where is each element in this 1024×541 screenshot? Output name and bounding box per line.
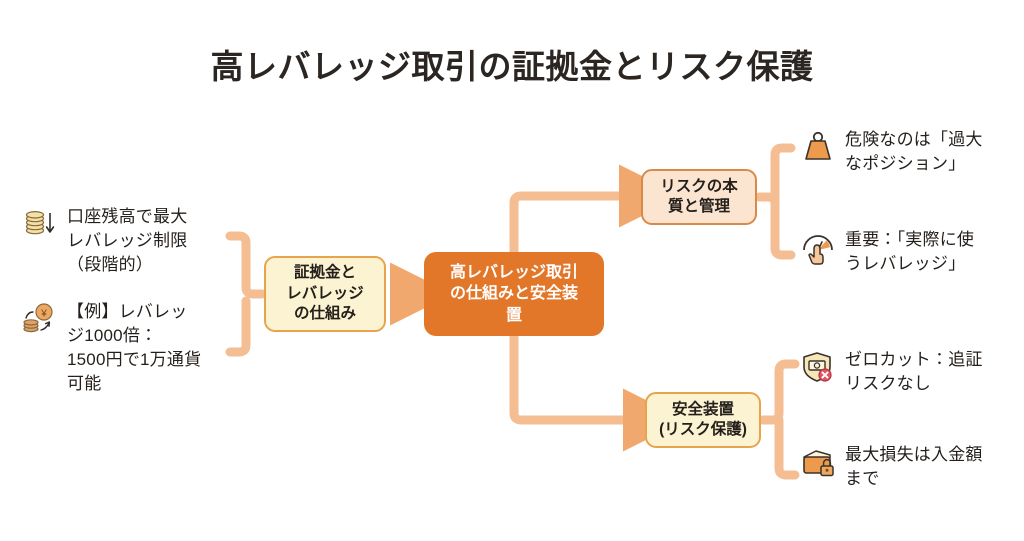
wallet-lock-icon bbox=[800, 444, 836, 480]
leaf-oversized-position-danger[interactable]: 危険なのは「過大 なポジション」 bbox=[800, 128, 1024, 176]
coin-stack-down-arrow-icon bbox=[22, 206, 58, 242]
leaf-zero-cut-no-margin-call[interactable]: ゼロカット：追証 リスクなし bbox=[800, 348, 1024, 396]
node-margin-leverage-mechanism[interactable]: 証拠金と レバレッジ の仕組み bbox=[264, 256, 386, 332]
connector-center-to-safety bbox=[514, 336, 632, 420]
svg-text:¥: ¥ bbox=[40, 309, 47, 320]
connector-safety-brace bbox=[763, 364, 795, 420]
node-safety-device[interactable]: 安全装置 (リスク保護) bbox=[645, 392, 761, 448]
mindmap-canvas: 高レバレッジ取引の証拠金とリスク保護 bbox=[0, 0, 1024, 541]
leaf-label: 重要：「実際に使 うレバレッジ」 bbox=[845, 228, 1021, 276]
yen-coin-up-arrow-icon: ¥ bbox=[22, 301, 58, 337]
leaf-effective-leverage-important[interactable]: 重要：「実際に使 うレバレッジ」 bbox=[800, 228, 1024, 276]
node-central-topic[interactable]: 高レバレッジ取引 の仕組みと安全装 置 bbox=[424, 252, 604, 336]
gauge-hand-icon bbox=[800, 229, 836, 265]
connector-risk-brace bbox=[759, 148, 791, 204]
connector-center-to-risk bbox=[514, 196, 628, 252]
connector-risk-brace-lower bbox=[775, 197, 791, 255]
node-risk-nature-management[interactable]: リスクの本 質と管理 bbox=[641, 169, 757, 225]
leaf-label: 最大損失は入金額 まで bbox=[845, 443, 1021, 491]
connector-safety-brace-lower bbox=[779, 420, 795, 475]
shield-money-x-icon bbox=[800, 349, 836, 385]
page-title: 高レバレッジ取引の証拠金とリスク保護 bbox=[0, 40, 1024, 88]
leaf-label: 【例】レバレッ ジ1000倍： 1500円で1万通貨 可能 bbox=[67, 300, 235, 397]
leaf-leverage-example[interactable]: ¥ 【例】レバレッ ジ1000倍： 1500円で1万通貨 可能 bbox=[22, 300, 240, 397]
leaf-label: ゼロカット：追証 リスクなし bbox=[845, 348, 1021, 396]
leaf-max-leverage-limit[interactable]: 口座残高で最大 レバレッジ制限 （段階的） bbox=[22, 205, 240, 277]
leaf-label: 危険なのは「過大 なポジション」 bbox=[845, 128, 1021, 176]
leaf-max-loss-deposit-limit[interactable]: 最大損失は入金額 まで bbox=[800, 443, 1024, 491]
leaf-label: 口座残高で最大 レバレッジ制限 （段階的） bbox=[67, 205, 235, 277]
weight-icon bbox=[800, 129, 836, 165]
